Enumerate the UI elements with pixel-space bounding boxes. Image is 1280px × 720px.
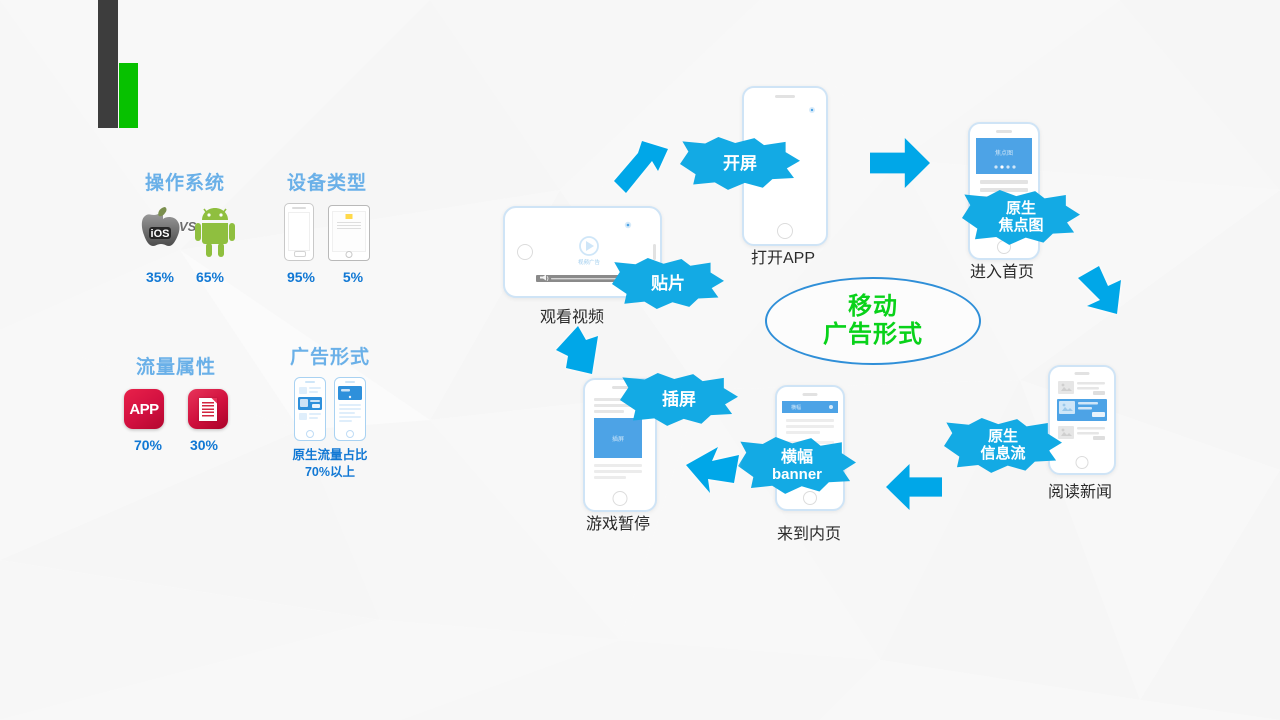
flow-badge-patch-ad-label: 贴片 bbox=[651, 274, 685, 293]
flow-badge-native-focus-line1: 原生 bbox=[998, 201, 1043, 218]
stat-group-adformat: 广告形式 bbox=[270, 342, 390, 481]
os-value-ios: 35% bbox=[135, 269, 185, 285]
stat-group-os: 操作系统 iOS VS bbox=[125, 168, 245, 285]
stat-title-adformat: 广告形式 bbox=[270, 342, 390, 369]
phone-native-icon bbox=[334, 377, 366, 441]
adformat-note-line1: 原生流量占比 bbox=[270, 447, 390, 464]
adformat-note-line2: 70%以上 bbox=[270, 464, 390, 481]
traffic-value-app: 70% bbox=[120, 437, 176, 453]
document-red-icon bbox=[188, 389, 228, 429]
os-values: 35% 65% bbox=[125, 269, 245, 285]
app-badge-label: APP bbox=[129, 401, 158, 418]
flow-badge-banner-line2: banner bbox=[772, 467, 822, 484]
flow-caption-game-pause: 游戏暂停 bbox=[566, 510, 670, 534]
decor-bar-dark bbox=[98, 0, 118, 128]
flow-caption-read-news: 阅读新闻 bbox=[1024, 478, 1136, 502]
flow-badge-interstitial-label: 插屏 bbox=[662, 390, 696, 409]
device-icon-pair bbox=[272, 203, 382, 261]
smartphone-icon bbox=[284, 203, 314, 261]
svg-text:iOS: iOS bbox=[151, 228, 170, 240]
center-ellipse-line2: 广告形式 bbox=[823, 321, 923, 349]
vs-label: VS bbox=[179, 219, 196, 234]
traffic-values: 70% 30% bbox=[117, 437, 235, 453]
slide-canvas: 操作系统 iOS VS bbox=[0, 0, 1280, 720]
center-ellipse-line1: 移动 bbox=[823, 293, 923, 321]
arrow-game-to-video-icon bbox=[552, 322, 610, 384]
phone-portrait-feed bbox=[1048, 365, 1116, 475]
svg-text:视频广告: 视频广告 bbox=[578, 258, 601, 266]
flow-badge-splash-label: 开屏 bbox=[723, 154, 757, 173]
svg-text:插屏: 插屏 bbox=[612, 435, 624, 443]
stat-group-device: 设备类型 95% 5% bbox=[272, 168, 382, 285]
svg-text:焦点图: 焦点图 bbox=[995, 149, 1013, 157]
device-value-phone: 95% bbox=[275, 269, 327, 285]
stat-title-traffic: 流量属性 bbox=[117, 352, 235, 379]
tablet-icon bbox=[328, 205, 370, 261]
stat-title-device: 设备类型 bbox=[272, 168, 382, 195]
flow-node-read-news[interactable] bbox=[1048, 365, 1116, 475]
device-value-tablet: 5% bbox=[327, 269, 379, 285]
arrow-inner-to-game-icon bbox=[684, 443, 742, 501]
flow-badge-native-feed-line2: 信息流 bbox=[980, 446, 1025, 463]
app-badge-icon: APP bbox=[124, 389, 164, 429]
adformat-note: 原生流量占比 70%以上 bbox=[270, 447, 390, 481]
adformat-icon-pair bbox=[270, 377, 390, 441]
arrow-video-to-open-icon bbox=[612, 139, 674, 201]
flow-badge-native-focus-line2: 焦点图 bbox=[998, 218, 1043, 235]
device-values: 95% 5% bbox=[272, 269, 382, 285]
flow-badge-native-feed-line1: 原生 bbox=[980, 429, 1025, 446]
android-robot-icon bbox=[195, 207, 235, 257]
flow-caption-home-page: 进入首页 bbox=[952, 258, 1052, 282]
traffic-icon-pair: APP bbox=[117, 389, 235, 429]
arrow-home-to-news-icon bbox=[1073, 264, 1135, 332]
flow-caption-open-app: 打开APP bbox=[742, 244, 824, 268]
stat-title-os: 操作系统 bbox=[125, 168, 245, 195]
decor-bar-green bbox=[119, 63, 138, 128]
os-value-android: 65% bbox=[185, 269, 235, 285]
os-icon-pair: iOS VS bbox=[139, 205, 231, 261]
flow-caption-inner-page: 来到内页 bbox=[757, 520, 861, 544]
center-ellipse: 移动 广告形式 bbox=[765, 277, 981, 365]
phone-feed-icon bbox=[294, 377, 326, 441]
stat-group-traffic: 流量属性 APP 70% 30% bbox=[117, 352, 235, 453]
traffic-value-wap: 30% bbox=[176, 437, 232, 453]
svg-text:横幅: 横幅 bbox=[791, 404, 801, 411]
flow-badge-banner-line1: 横幅 bbox=[772, 449, 822, 467]
